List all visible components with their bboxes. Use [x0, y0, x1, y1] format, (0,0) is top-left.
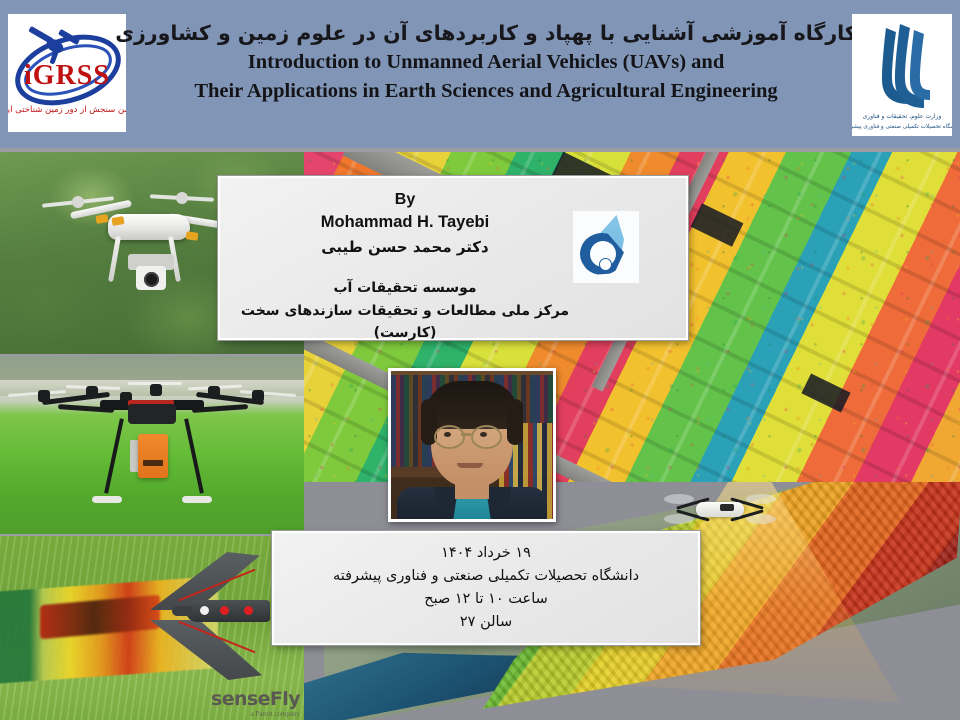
poster-header: iGRSS انجمن سنجش از دور زمین شناختی ایرا… [0, 0, 960, 148]
eyeglass-lens-left [434, 425, 465, 449]
motor [252, 390, 264, 402]
ebee-ndvi-image: senseFly a Parrot company [0, 536, 304, 720]
speaker-name-english: Mohammad H. Tayebi [230, 211, 580, 235]
igrss-logo: iGRSS انجمن سنجش از دور زمین شناختی ایرا… [8, 14, 126, 132]
water-dot [600, 259, 611, 270]
by-label: By [230, 188, 580, 211]
motor [38, 390, 50, 402]
eyeglass-lens-right [471, 425, 502, 449]
eyeglass-bridge [461, 433, 471, 436]
motor [150, 384, 162, 396]
event-hall: سالن ۲۷ [274, 611, 698, 634]
svg-text:انجمن سنجش از دور زمین شناختی: انجمن سنجش از دور زمین شناختی ایران [8, 105, 126, 115]
water-research-institute-logo [573, 211, 639, 283]
speaker-portrait [388, 368, 556, 522]
hair-side-right [507, 399, 523, 445]
date-venue-text: ۱۹ خرداد ۱۴۰۴ دانشگاه تحصیلات تکمیلی صنع… [274, 542, 698, 634]
motor [86, 386, 98, 398]
university-logo-graphic: وزارت علوم، تحقیقات و فناوری دانشگاه تحص… [852, 14, 952, 136]
hexacopter-paddy-image [0, 356, 304, 534]
event-date: ۱۹ خرداد ۱۴۰۴ [274, 542, 698, 565]
sensefly-tagline: a Parrot company [211, 710, 300, 718]
igrss-logo-graphic: iGRSS انجمن سنجش از دور زمین شناختی ایرا… [8, 14, 126, 132]
title-persian: کارگاه آموزشی آشنایی با پهپاد و کاربردها… [115, 20, 857, 48]
rotor-hub [176, 192, 188, 204]
landing-leg [104, 418, 124, 493]
fuselage-marker [200, 606, 209, 615]
sensor-aperture [143, 460, 163, 466]
poster-title-block: کارگاه آموزشی آشنایی با پهپاد و کاربردها… [128, 20, 844, 138]
arm-stripe [186, 231, 199, 241]
date-venue-panel: ۱۹ خرداد ۱۴۰۴ دانشگاه تحصیلات تکمیلی صنع… [272, 531, 700, 645]
speaker-text-block: By Mohammad H. Tayebi دکتر محمد حسن طیبی… [230, 188, 580, 344]
landing-foot [92, 496, 122, 503]
svg-text:دانشگاه تحصیلات تکمیلی صنعتی و: دانشگاه تحصیلات تکمیلی صنعتی و فناوری پی… [852, 122, 952, 130]
mouth [457, 463, 483, 468]
speaker-org-line1: موسسه تحقیقات آب [230, 277, 580, 299]
landing-leg [184, 418, 204, 493]
landing-foot [182, 496, 212, 503]
rotor-hub [72, 196, 84, 208]
speaker-panel: By Mohammad H. Tayebi دکتر محمد حسن طیبی… [218, 176, 688, 340]
title-english-line2: Their Applications in Earth Sciences and… [194, 77, 777, 106]
scanning-drone-icon [664, 492, 776, 526]
event-time: ساعت ۱۰ تا ۱۲ صبح [274, 588, 698, 611]
drone-camera [720, 504, 734, 511]
svg-text:iGRSS: iGRSS [24, 60, 110, 91]
speaker-name-persian: دکتر محمد حسن طیبی [230, 235, 580, 259]
sensor-payload [138, 434, 168, 478]
hair [425, 381, 519, 429]
svg-text:وزارت علوم، تحقیقات و فناوری: وزارت علوم، تحقیقات و فناوری [863, 113, 942, 120]
fuselage-marker [220, 606, 229, 615]
title-english-line1: Introduction to Unmanned Aerial Vehicles… [248, 48, 725, 77]
poster-root: senseFly a Parrot company iGRSS انجمن سن… [0, 0, 960, 720]
graduate-university-logo: وزارت علوم، تحقیقات و فناوری دانشگاه تحص… [852, 14, 952, 136]
landing-leg [108, 236, 121, 282]
camera-lens [144, 272, 159, 287]
sensefly-wordmark: senseFly [211, 690, 300, 709]
speaker-org-line2: مرکز ملی مطالعات و تحقیقات سازندهای سخت … [230, 300, 580, 345]
fuselage-marker [244, 606, 253, 615]
nose-probe [172, 606, 192, 616]
drone-body [128, 404, 176, 424]
motor [208, 386, 220, 398]
arm-stripe [95, 214, 108, 224]
sensefly-watermark: senseFly a Parrot company [211, 690, 300, 718]
event-venue: دانشگاه تحصیلات تکمیلی صنعتی و فناوری پی… [274, 565, 698, 588]
